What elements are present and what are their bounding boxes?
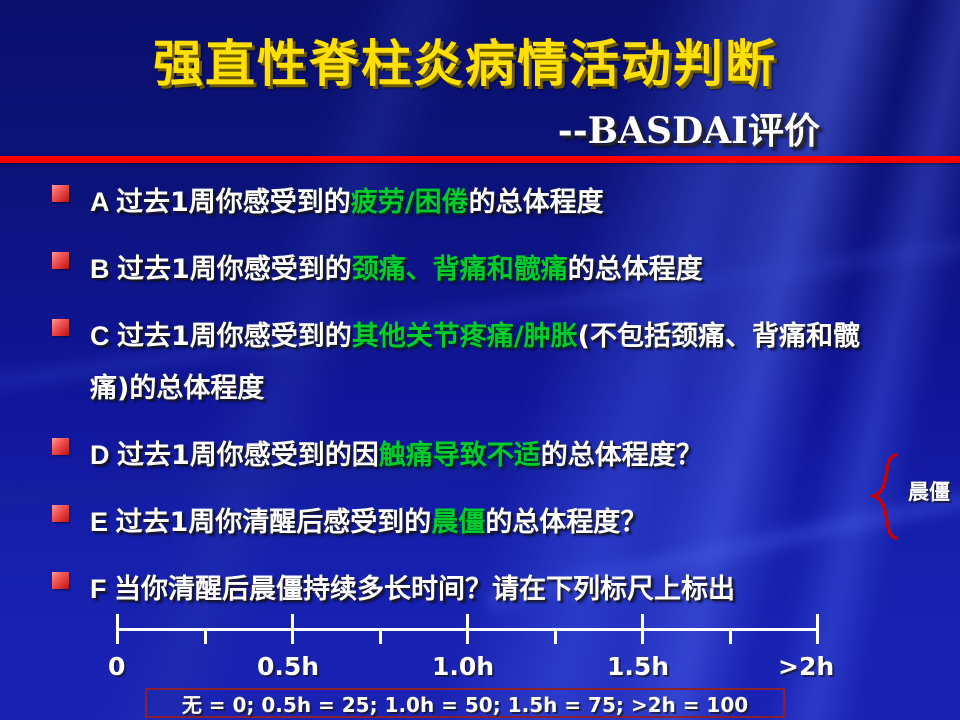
highlighted-phrase: 其他关节疼痛/肿胀 — [352, 321, 578, 352]
slide-canvas: 强直性脊柱炎病情活动判断 --BASDAI评价 A 过去1周你感受到的疲劳/困倦… — [0, 0, 960, 720]
highlighted-phrase: 晨僵 — [431, 507, 485, 538]
plain-phrase: 过去1周你感受到的 — [116, 187, 351, 218]
plain-phrase: 过去1周你感受到的 — [117, 321, 352, 352]
ruler-tick-label: >2h — [778, 652, 834, 681]
ruler-tick-minor — [554, 629, 557, 644]
slide-title: 强直性脊柱炎病情活动判断 — [0, 24, 930, 96]
question-text: E 过去1周你清醒后感受到的晨僵的总体程度？ — [90, 496, 892, 549]
ruler-tick-major — [116, 614, 119, 644]
question-text: B 过去1周你感受到的颈痛、背痛和髋痛的总体程度 — [90, 243, 892, 296]
ruler-tick-label: 0.5h — [257, 652, 319, 681]
ruler-tick-label: 1.0h — [432, 652, 494, 681]
time-scale-ruler[interactable] — [116, 614, 816, 644]
question-list: A 过去1周你感受到的疲劳/困倦的总体程度B 过去1周你感受到的颈痛、背痛和髋痛… — [52, 176, 892, 630]
question-letter: C — [90, 321, 117, 351]
morning-stiffness-annotation: 晨僵 — [866, 452, 960, 542]
bullet-square-icon — [52, 438, 69, 455]
question-letter: D — [90, 440, 117, 470]
scoring-legend-text: 无 = 0; 0.5h = 25; 1.0h = 50; 1.5h = 75; … — [182, 689, 748, 718]
question-letter: F — [90, 574, 114, 604]
plain-phrase: 的总体程度？ — [485, 507, 647, 538]
plain-phrase: 的总体程度 — [469, 187, 604, 218]
question-item-b: B 过去1周你感受到的颈痛、背痛和髋痛的总体程度 — [52, 243, 892, 296]
question-text: F 当你清醒后晨僵持续多长时间？请在下列标尺上标出 — [90, 563, 892, 616]
question-item-f: F 当你清醒后晨僵持续多长时间？请在下列标尺上标出 — [52, 563, 892, 616]
plain-phrase: 过去1周你感受到的 — [117, 254, 352, 285]
question-text: C 过去1周你感受到的其他关节疼痛/肿胀(不包括颈痛、背痛和髋痛)的总体程度 — [90, 310, 892, 415]
bullet-square-icon — [52, 505, 69, 522]
highlighted-phrase: 疲劳/困倦 — [351, 187, 469, 218]
ruler-tick-major — [466, 614, 469, 644]
slide-subtitle: --BASDAI评价 — [558, 102, 820, 154]
curly-brace-icon — [866, 452, 912, 542]
ruler-tick-minor — [204, 629, 207, 644]
plain-phrase: 过去1周你清醒后感受到的 — [116, 507, 432, 538]
question-letter: B — [90, 254, 117, 284]
title-divider-line — [0, 156, 960, 163]
ruler-tick-label: 1.5h — [607, 652, 669, 681]
question-item-e: E 过去1周你清醒后感受到的晨僵的总体程度？ — [52, 496, 892, 549]
plain-phrase: 的总体程度？ — [541, 440, 703, 471]
ruler-tick-major — [816, 614, 819, 644]
question-text: A 过去1周你感受到的疲劳/困倦的总体程度 — [90, 176, 892, 229]
ruler-tick-label: 0 — [108, 652, 125, 681]
bullet-square-icon — [52, 185, 69, 202]
plain-phrase: 当你清醒后晨僵持续多长时间？请在下列标尺上标出 — [114, 574, 735, 605]
plain-phrase: 过去1周你感受到的因 — [117, 440, 379, 471]
brace-label-text: 晨僵 — [908, 476, 950, 506]
highlighted-phrase: 颈痛、背痛和髋痛 — [352, 254, 568, 285]
ruler-tick-major — [291, 614, 294, 644]
question-item-d: D 过去1周你感受到的因触痛导致不适的总体程度？ — [52, 429, 892, 482]
bullet-square-icon — [52, 319, 69, 336]
question-text: D 过去1周你感受到的因触痛导致不适的总体程度？ — [90, 429, 892, 482]
ruler-tick-minor — [729, 629, 732, 644]
highlighted-phrase: 触痛导致不适 — [379, 440, 541, 471]
question-item-a: A 过去1周你感受到的疲劳/困倦的总体程度 — [52, 176, 892, 229]
plain-phrase: 的总体程度 — [568, 254, 703, 285]
bullet-square-icon — [52, 572, 69, 589]
question-letter: E — [90, 507, 116, 537]
ruler-tick-major — [641, 614, 644, 644]
ruler-tick-minor — [379, 629, 382, 644]
scoring-legend-box: 无 = 0; 0.5h = 25; 1.0h = 50; 1.5h = 75; … — [145, 688, 785, 718]
bullet-square-icon — [52, 252, 69, 269]
question-item-c: C 过去1周你感受到的其他关节疼痛/肿胀(不包括颈痛、背痛和髋痛)的总体程度 — [52, 310, 892, 415]
question-letter: A — [90, 187, 116, 217]
